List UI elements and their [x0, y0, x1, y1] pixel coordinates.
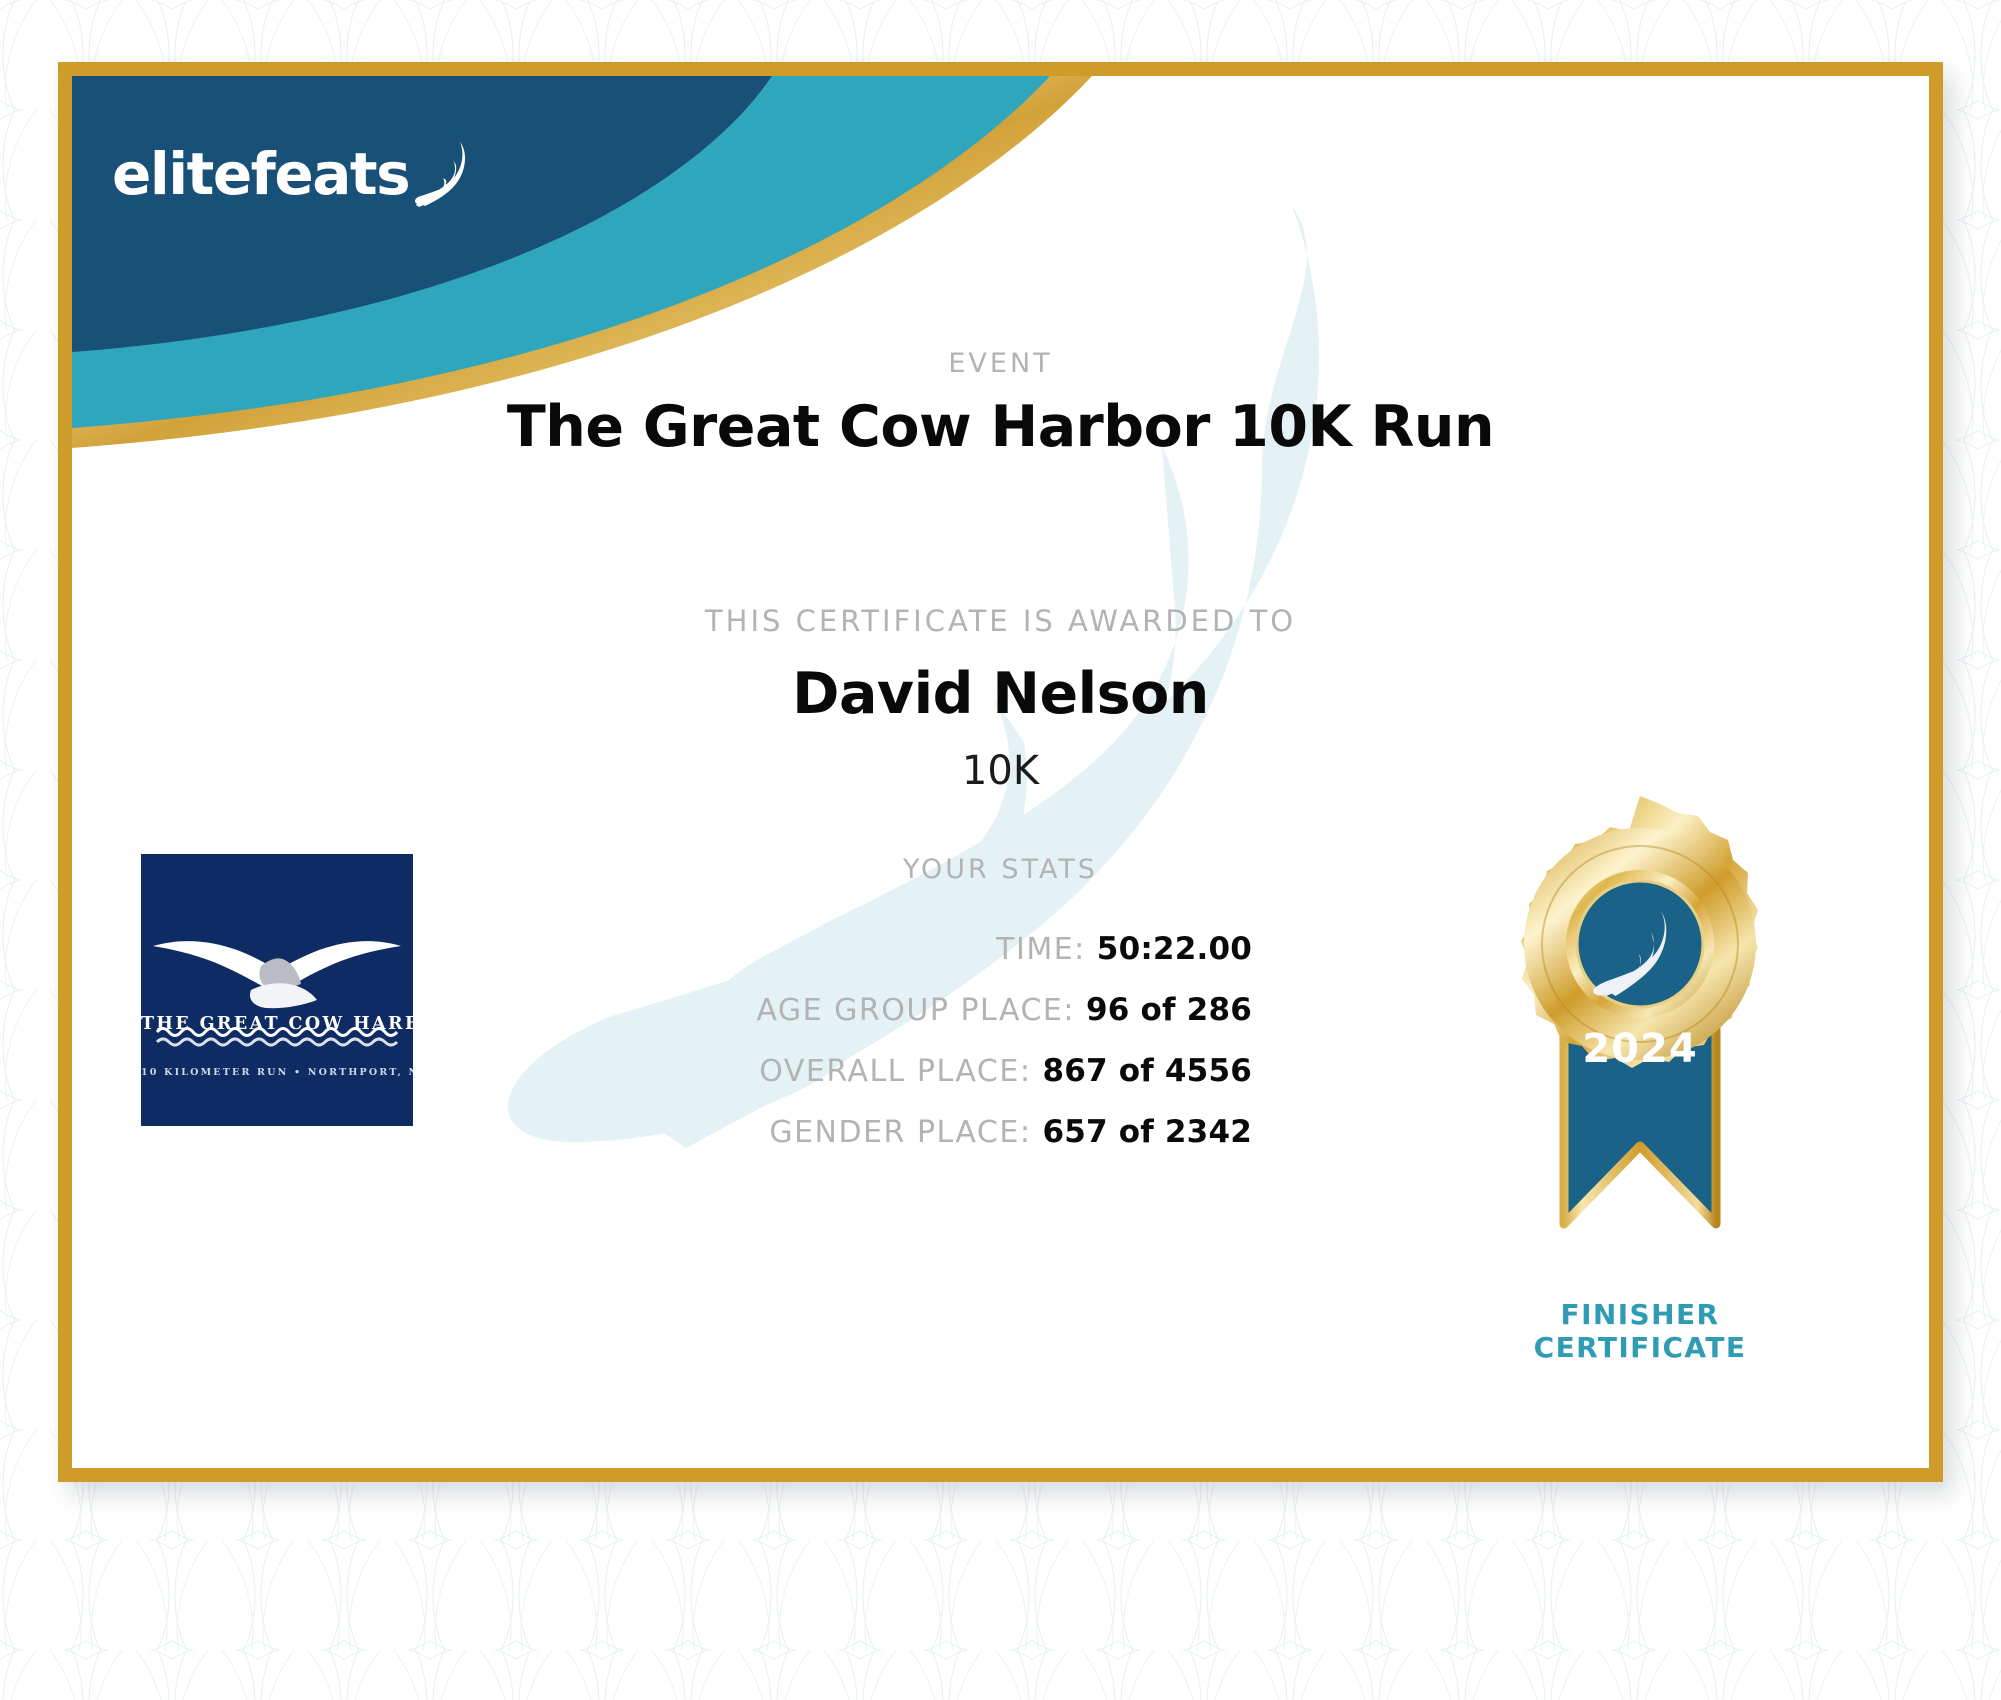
stat-value: 96 of 286 — [1086, 992, 1252, 1028]
certificate-page: elitefeats EVENT — [0, 0, 2001, 1700]
event-logo-tile: THE GREAT COW HARBOR 10 KILOMETER RUN • … — [141, 854, 413, 1126]
finisher-medal: 2024 — [1490, 794, 1790, 1334]
recipient-name: David Nelson — [72, 661, 1929, 727]
brand-logo: elitefeats — [112, 138, 475, 210]
certificate-sheet: elitefeats EVENT — [72, 76, 1929, 1468]
stat-value: 50:22.00 — [1097, 931, 1252, 967]
stat-value: 657 of 2342 — [1042, 1114, 1252, 1150]
medal-caption-line1: FINISHER — [1480, 1298, 1800, 1331]
event-logo-name: THE GREAT COW HARBOR — [141, 1014, 413, 1034]
certificate-frame: elitefeats EVENT — [58, 62, 1943, 1482]
seagull-icon — [141, 854, 413, 1126]
medal-year: 2024 — [1582, 1026, 1697, 1072]
stat-label: GENDER PLACE: — [769, 1115, 1031, 1150]
stat-label: OVERALL PLACE: — [759, 1054, 1031, 1089]
stat-value: 867 of 4556 — [1042, 1053, 1252, 1089]
brand-wordmark: elitefeats — [112, 140, 409, 208]
event-label: EVENT — [72, 348, 1929, 379]
medal-caption-line2: CERTIFICATE — [1480, 1331, 1800, 1364]
stat-label: AGE GROUP PLACE: — [756, 993, 1075, 1028]
event-title: The Great Cow Harbor 10K Run — [72, 394, 1929, 460]
awarded-to-label: THIS CERTIFICATE IS AWARDED TO — [72, 604, 1929, 638]
event-logo-subtitle: 10 KILOMETER RUN • NORTHPORT, NY — [141, 1067, 413, 1078]
stat-label: TIME: — [996, 932, 1086, 967]
medal-caption: FINISHER CERTIFICATE — [1480, 1298, 1800, 1364]
winged-foot-icon — [413, 138, 475, 210]
race-distance: 10K — [72, 748, 1929, 794]
